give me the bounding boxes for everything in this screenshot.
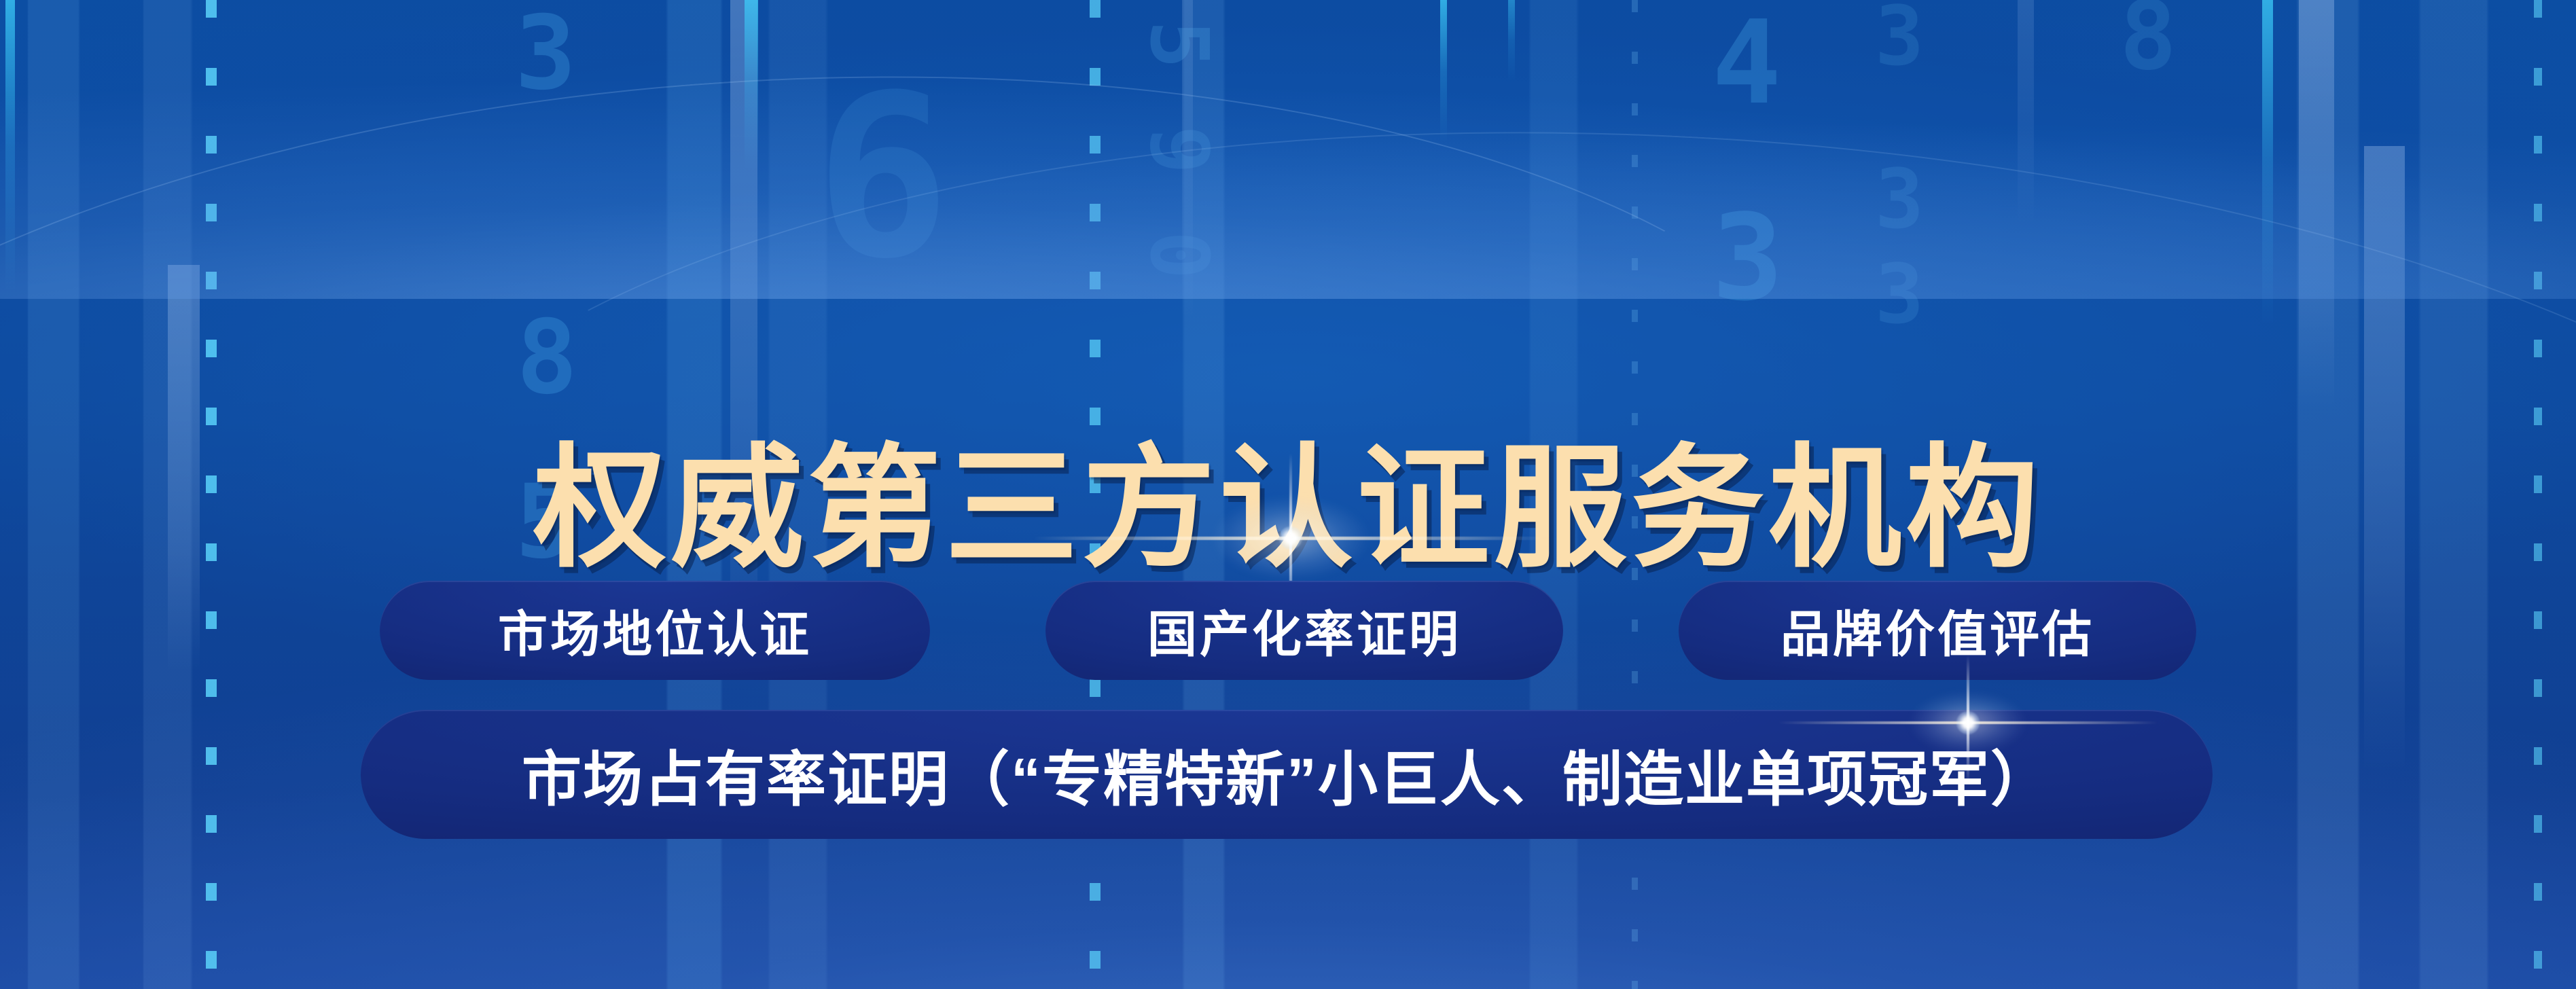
cyan-streak bbox=[1508, 0, 1515, 82]
pillar-bar bbox=[2299, 0, 2334, 408]
digital-digit: 3 bbox=[1712, 204, 1791, 313]
digital-digit: 5 bbox=[1142, 20, 1216, 73]
pill-localization-rate[interactable]: 国产化率证明 bbox=[1045, 581, 1563, 680]
page-title: 权威第三方认证服务机构 bbox=[0, 442, 2576, 575]
digital-digit: 6 bbox=[815, 75, 963, 281]
digital-digit: 4 bbox=[1712, 10, 1789, 116]
digital-digit: 8 bbox=[516, 311, 584, 405]
promo-banner: 3 8 5 6 4 3 3 3 3 5 9 0 8 权威第三方认证服务机构 市场… bbox=[0, 0, 2576, 989]
pill-market-position[interactable]: 市场地位认证 bbox=[380, 581, 930, 680]
cyan-streak bbox=[5, 0, 15, 292]
digital-digit: 0 bbox=[1142, 231, 1216, 284]
pillar-bar bbox=[2018, 0, 2034, 224]
pill-market-share[interactable]: 市场占有率证明（“专精特新”小巨人、制造业单项冠军） bbox=[361, 710, 2213, 839]
digital-digit: 3 bbox=[515, 7, 582, 101]
cyan-streak bbox=[1440, 0, 1447, 143]
digital-digit: 3 bbox=[1875, 163, 1929, 238]
digital-digit: 3 bbox=[1875, 0, 1929, 75]
digital-digit: 3 bbox=[1875, 258, 1929, 333]
digital-digit: 8 bbox=[2119, 0, 2183, 81]
background-bottom-glow bbox=[0, 0, 2576, 299]
cyan-streak bbox=[745, 0, 758, 170]
pillar-bar bbox=[1182, 0, 1193, 319]
pill-brand-value[interactable]: 品牌价值评估 bbox=[1679, 581, 2196, 680]
digital-digit: 9 bbox=[1142, 126, 1216, 179]
cyan-streak bbox=[2262, 0, 2273, 326]
certification-pill-row: 市场地位认证 国产化率证明 品牌价值评估 bbox=[0, 581, 2576, 680]
